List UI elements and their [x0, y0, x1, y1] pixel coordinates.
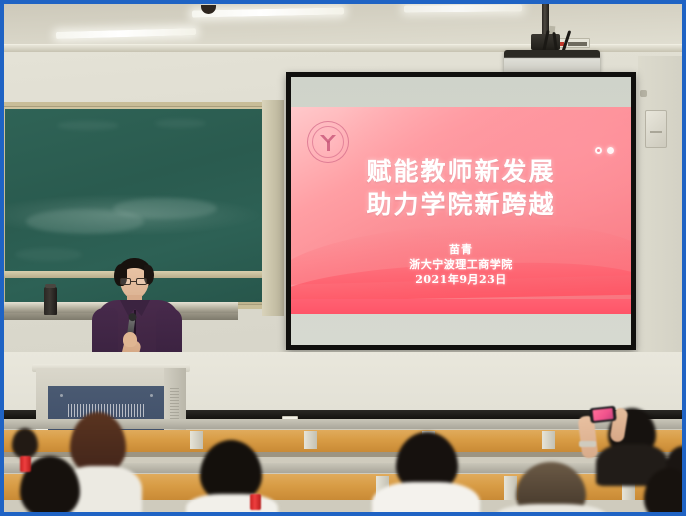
podium-side-vents	[170, 388, 179, 422]
audience-head	[12, 428, 38, 458]
slide-title-line-1: 赋能教师新发展	[291, 155, 631, 188]
presenter-hand	[123, 332, 137, 347]
projection-screen: 赋能教师新发展 助力学院新跨越 苗青 浙大宁波理工商学院 2021年9月23日	[291, 77, 631, 345]
slide-title: 赋能教师新发展 助力学院新跨越	[291, 155, 631, 221]
right-wall	[638, 56, 682, 372]
slide-corner-dots-icon	[595, 147, 614, 154]
glasses-icon	[120, 278, 149, 285]
red-water-bottle	[20, 456, 31, 472]
audience-head	[70, 412, 126, 474]
slide-bottom-band	[291, 299, 631, 314]
slide-subtitle-block: 苗青 浙大宁波理工商学院 2021年9月23日	[291, 242, 631, 287]
smartphone-icon	[589, 406, 616, 424]
classroom-photograph: 赋能教师新发展 助力学院新跨越 苗青 浙大宁波理工商学院 2021年9月23日	[4, 4, 682, 512]
thermos-cup	[44, 287, 57, 315]
audience-body	[186, 494, 278, 512]
red-water-bottle	[250, 494, 261, 510]
wall-pillar	[262, 100, 284, 316]
ceiling-light-tube	[404, 4, 522, 12]
photographer-wristwatch	[579, 441, 596, 447]
slide-date: 2021年9月23日	[291, 272, 631, 287]
audience-body	[372, 482, 480, 512]
audience-head	[200, 440, 262, 502]
wall-mounted-speaker	[645, 110, 667, 148]
slide-organization: 浙大宁波理工商学院	[291, 257, 631, 272]
wall-bracket	[640, 90, 647, 97]
projection-screen-frame: 赋能教师新发展 助力学院新跨越 苗青 浙大宁波理工商学院 2021年9月23日	[286, 72, 636, 350]
slide-presenter-name: 苗青	[291, 242, 631, 257]
slide-title-line-2: 助力学院新跨越	[291, 188, 631, 221]
presentation-slide: 赋能教师新发展 助力学院新跨越 苗青 浙大宁波理工商学院 2021年9月23日	[291, 107, 631, 314]
audience-body	[496, 504, 606, 512]
